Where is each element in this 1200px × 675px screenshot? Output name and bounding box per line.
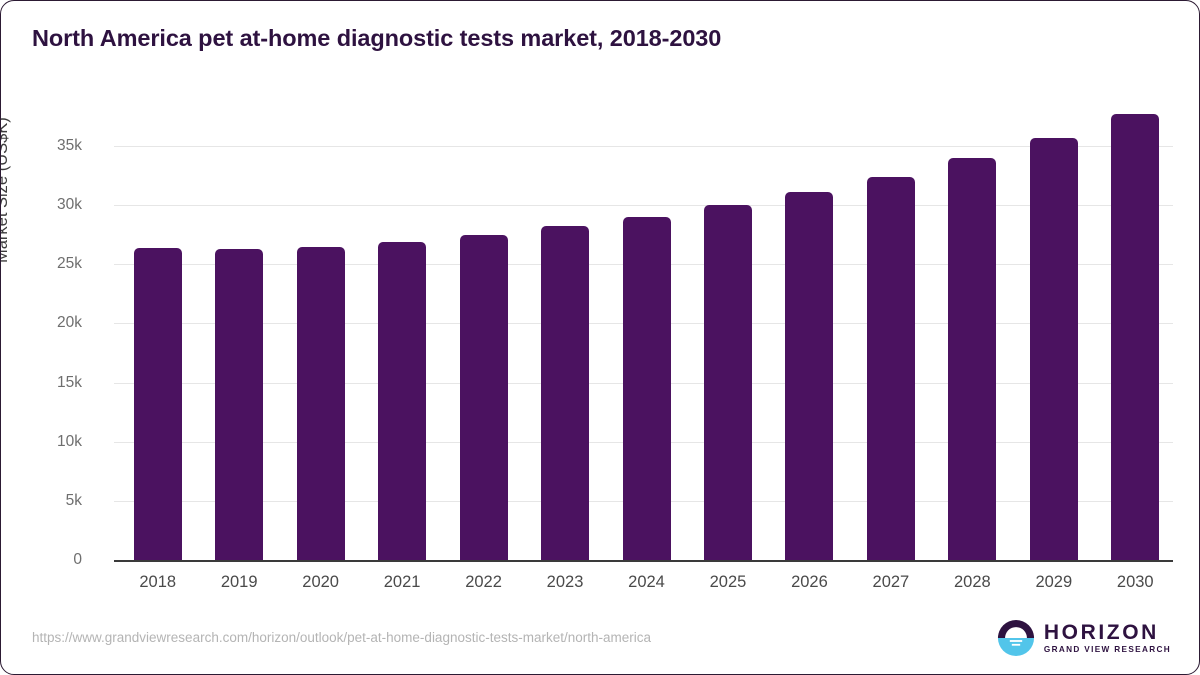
x-axis-tick-label: 2024 xyxy=(606,573,687,592)
logo-subtitle: GRAND VIEW RESEARCH xyxy=(1044,646,1171,654)
x-axis-tick-label: 2022 xyxy=(443,573,524,592)
gridline xyxy=(114,146,1173,147)
plot-area: 05k10k15k20k25k30k35k xyxy=(114,146,1173,560)
x-axis-tick-label: 2018 xyxy=(117,573,198,592)
bar[interactable] xyxy=(134,248,182,560)
x-axis-tick-label: 2030 xyxy=(1095,573,1176,592)
x-axis-tick-label: 2026 xyxy=(769,573,850,592)
y-axis-tick-label: 20k xyxy=(2,314,82,332)
x-axis-tick-label: 2025 xyxy=(687,573,768,592)
bar[interactable] xyxy=(378,242,426,560)
x-axis-tick-label: 2027 xyxy=(850,573,931,592)
source-url-link[interactable]: https://www.grandviewresearch.com/horizo… xyxy=(32,630,651,645)
x-axis-tick-label: 2023 xyxy=(525,573,606,592)
y-axis-tick-label: 15k xyxy=(2,374,82,392)
y-axis-tick-label: 10k xyxy=(2,433,82,451)
y-axis-tick-label: 35k xyxy=(2,137,82,155)
x-axis-tick-label: 2028 xyxy=(932,573,1013,592)
bar[interactable] xyxy=(1030,138,1078,560)
y-axis-tick-label: 30k xyxy=(2,196,82,214)
horizon-logo[interactable]: HORIZON GRAND VIEW RESEARCH xyxy=(997,619,1171,657)
y-axis-tick-label: 0 xyxy=(2,551,82,569)
bar[interactable] xyxy=(215,249,263,560)
bar[interactable] xyxy=(297,247,345,560)
bar[interactable] xyxy=(785,192,833,560)
bar[interactable] xyxy=(460,235,508,560)
logo-wordmark: HORIZON xyxy=(1044,622,1171,643)
chart-canvas: North America pet at-home diagnostic tes… xyxy=(0,0,1200,675)
x-axis-tick-label: 2029 xyxy=(1013,573,1094,592)
page-title: North America pet at-home diagnostic tes… xyxy=(32,25,721,52)
horizon-logo-icon xyxy=(997,619,1035,657)
bar[interactable] xyxy=(541,226,589,560)
x-axis-tick-label: 2019 xyxy=(199,573,280,592)
x-axis-line xyxy=(114,560,1173,562)
x-axis-tick-label: 2020 xyxy=(280,573,361,592)
bar[interactable] xyxy=(867,177,915,560)
y-axis-tick-label: 25k xyxy=(2,255,82,273)
horizon-logo-text: HORIZON GRAND VIEW RESEARCH xyxy=(1044,622,1171,654)
bar[interactable] xyxy=(1111,114,1159,560)
bar[interactable] xyxy=(704,205,752,560)
y-axis-tick-label: 5k xyxy=(2,492,82,510)
gridline xyxy=(114,205,1173,206)
bar[interactable] xyxy=(623,217,671,560)
x-axis-tick-label: 2021 xyxy=(362,573,443,592)
bar[interactable] xyxy=(948,158,996,560)
